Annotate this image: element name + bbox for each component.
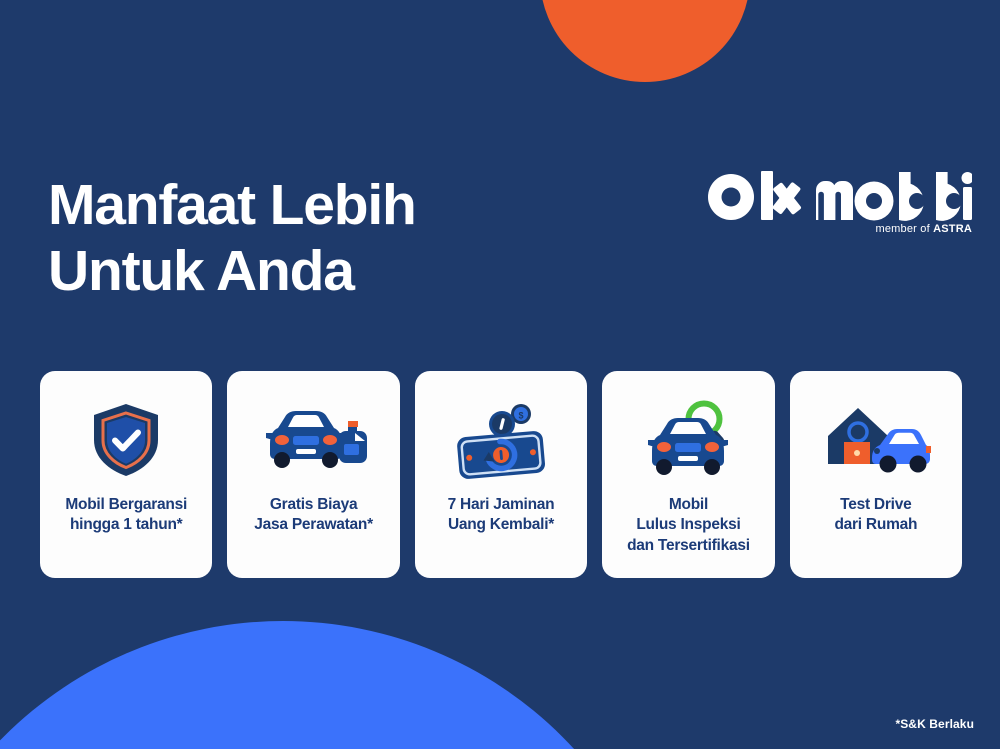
benefit-card-warranty[interactable]: Mobil Bergaransi hingga 1 tahun* — [40, 371, 212, 578]
money-back-icon: $ — [449, 397, 553, 483]
benefit-card-free-service[interactable]: Gratis Biaya Jasa Perawatan* — [227, 371, 399, 578]
olxmobbi-wordmark-icon — [704, 172, 972, 220]
home-test-drive-icon — [820, 397, 932, 483]
benefit-card-inspection[interactable]: Mobil Lulus Inspeksi dan Tersertifikasi — [602, 371, 774, 578]
benefit-card-label: Mobil Bergaransi hingga 1 tahun* — [59, 495, 193, 536]
benefit-card-list: Mobil Bergaransi hingga 1 tahun* — [40, 371, 962, 578]
car-oil-can-icon — [260, 397, 368, 483]
benefit-card-label: 7 Hari Jaminan Uang Kembali* — [442, 495, 561, 536]
logo-tagline: member of ASTRA — [704, 223, 972, 235]
shield-check-icon — [89, 397, 163, 483]
logo-tagline-brand: ASTRA — [933, 223, 972, 235]
benefit-card-label: Mobil Lulus Inspeksi dan Tersertifikasi — [621, 495, 756, 556]
car-inspection-icon — [642, 397, 734, 483]
orange-circle-decoration — [540, 0, 750, 82]
svg-text:$: $ — [519, 411, 524, 421]
benefit-card-label: Gratis Biaya Jasa Perawatan* — [248, 495, 379, 536]
page-title: Manfaat Lebih Untuk Anda — [48, 172, 416, 304]
logo-tagline-prefix: member of — [875, 223, 933, 235]
blue-circle-decoration — [0, 621, 678, 749]
benefit-card-money-back[interactable]: $ — [415, 371, 587, 578]
footnote-terms: *S&K Berlaku — [895, 717, 974, 731]
benefit-card-test-drive[interactable]: Test Drive dari Rumah — [790, 371, 962, 578]
promo-banner: Manfaat Lebih Untuk Anda — [0, 0, 1000, 749]
benefit-card-label: Test Drive dari Rumah — [828, 495, 923, 536]
brand-logo: member of ASTRA — [704, 172, 972, 235]
